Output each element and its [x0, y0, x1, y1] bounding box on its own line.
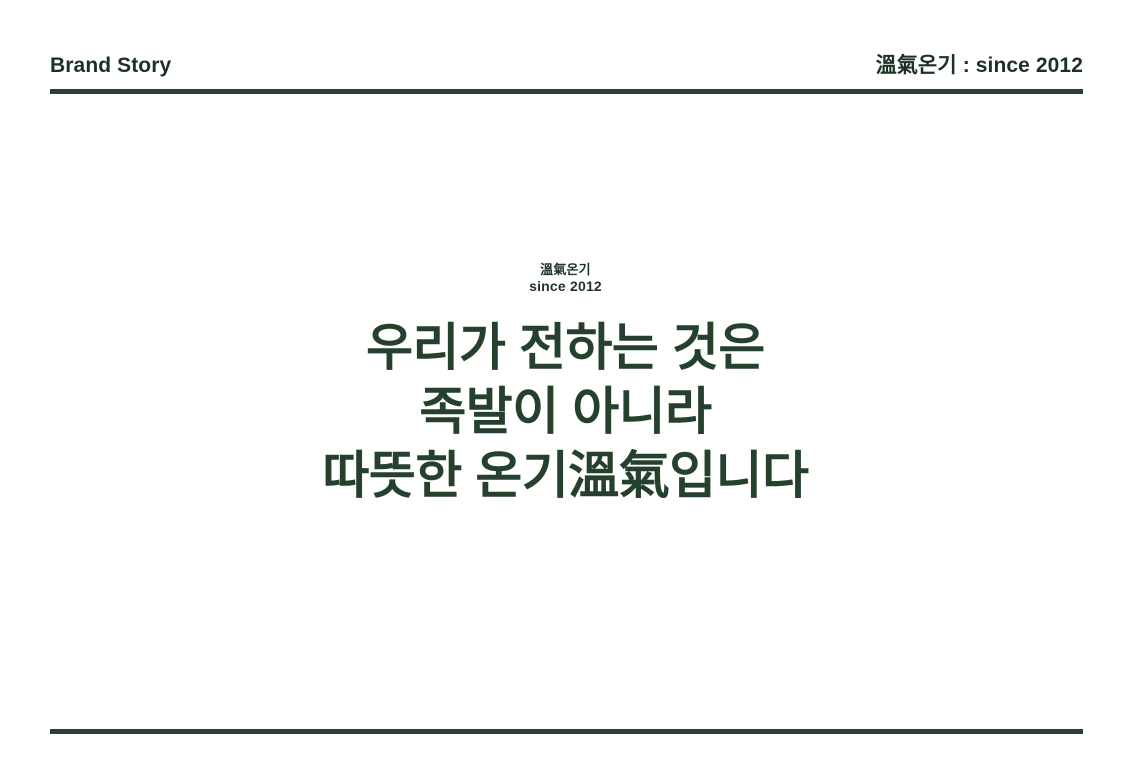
logo-since-label: since 2012 [0, 278, 1131, 296]
page-title: Brand Story [50, 55, 171, 76]
footer-divider-rule [50, 729, 1083, 734]
center-content-block: 溫氣온기 since 2012 우리가 전하는 것은 족발이 아니라 따뜻한 온… [0, 262, 1131, 509]
header-divider-rule [50, 89, 1083, 94]
brand-signature: 溫氣온기 : since 2012 [876, 55, 1083, 76]
slide-header: Brand Story 溫氣온기 : since 2012 [50, 46, 1083, 84]
headline-line-3: 따뜻한 온기溫氣입니다 [0, 444, 1131, 508]
headline-group: 우리가 전하는 것은 족발이 아니라 따뜻한 온기溫氣입니다 [0, 316, 1131, 509]
headline-line-1: 우리가 전하는 것은 [0, 316, 1131, 380]
headline-line-2: 족발이 아니라 [0, 380, 1131, 444]
brand-story-slide: Brand Story 溫氣온기 : since 2012 溫氣온기 since… [0, 0, 1131, 777]
logo-wordmark: 溫氣온기 [0, 262, 1131, 278]
